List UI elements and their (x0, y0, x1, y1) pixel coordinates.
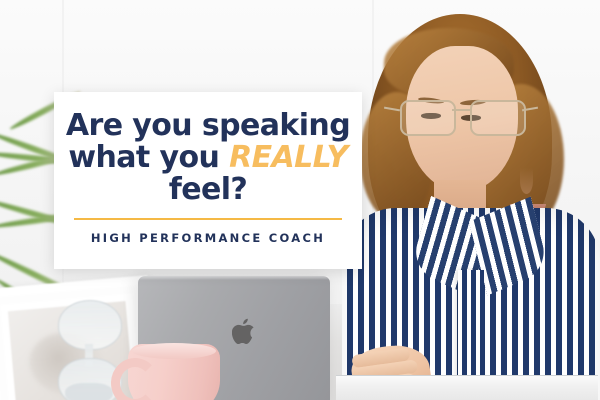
glasses-lens (470, 100, 526, 136)
person-photo (330, 0, 600, 400)
headline-line-3: feel? (64, 174, 352, 206)
subtitle: HIGH PERFORMANCE COACH (64, 231, 352, 245)
apple-logo-icon (232, 318, 256, 346)
glasses-lens (400, 100, 456, 136)
headline-line-2-prefix: what you (68, 140, 219, 175)
quote-card: Are you speaking what you REALLY feel? H… (54, 92, 362, 269)
quote-card-content: Are you speaking what you REALLY feel? H… (54, 92, 362, 269)
headline-line-2: what you REALLY (64, 142, 352, 174)
coffee-mug (128, 344, 220, 400)
headline-line-1: Are you speaking (64, 110, 352, 142)
mug-rim (132, 343, 216, 359)
laptop-lid-edge (138, 276, 330, 280)
glasses-icon (398, 100, 526, 134)
hourglass-sand (65, 383, 113, 400)
glasses-bridge (452, 109, 470, 111)
mug-handle (111, 358, 159, 400)
nose (520, 168, 533, 194)
screenshot-canvas: Are you speaking what you REALLY feel? H… (0, 0, 600, 400)
notebook-page (336, 375, 598, 400)
gold-divider (74, 218, 342, 220)
hourglass-top-bulb (58, 300, 122, 350)
headline-emphasis-really: REALLY (229, 140, 348, 175)
